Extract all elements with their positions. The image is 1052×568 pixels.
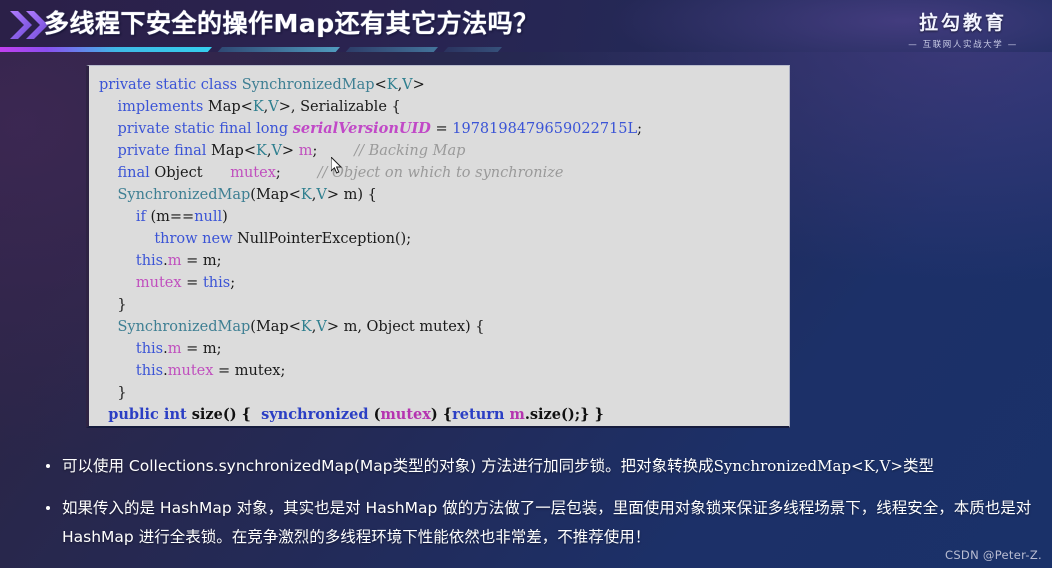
- code-token: // Object on which to synchronize: [318, 165, 564, 181]
- code-token: >, Serializable {: [279, 99, 401, 115]
- code-token: [99, 99, 117, 115]
- code-token: > m, Object mutex) {: [327, 319, 485, 335]
- code-token: K: [387, 77, 398, 93]
- code-token: return: [452, 406, 509, 423]
- code-token: mutex: [136, 275, 182, 291]
- code-token: [99, 165, 117, 181]
- code-token: }: [99, 385, 127, 401]
- code-token: (Map<: [250, 319, 301, 335]
- code-token: private final: [117, 143, 211, 159]
- code-token: mutex: [230, 165, 276, 181]
- code-token: this: [136, 253, 163, 269]
- code-token: [99, 341, 136, 357]
- code-token: V: [402, 77, 412, 93]
- code-line: }: [99, 382, 789, 404]
- code-token: =: [431, 121, 452, 137]
- code-token: ;: [312, 143, 354, 159]
- code-line: implements Map<K,V>, Serializable {: [99, 96, 789, 118]
- code-token: m: [299, 143, 313, 159]
- code-token: [99, 319, 117, 335]
- code-line: mutex = this;: [99, 272, 789, 294]
- code-line: this.m = m;: [99, 250, 789, 272]
- code-token: null: [194, 209, 222, 225]
- code-token: implements: [117, 99, 207, 115]
- code-token: =: [182, 275, 203, 291]
- code-line: SynchronizedMap(Map<K,V> m, Object mutex…: [99, 316, 789, 338]
- bullet-text-run: 如果传入的是 HashMap 对象，其实也是对 HashMap 做的方法做了一层…: [62, 499, 1031, 546]
- code-token: K: [253, 99, 264, 115]
- code-token: ;: [276, 165, 318, 181]
- code-token: NullPointerException();: [237, 231, 411, 247]
- code-token: = mutex;: [213, 363, 285, 379]
- code-token: mutex: [168, 363, 214, 379]
- bullet-text-run: 类型: [903, 457, 934, 475]
- code-content: private static class SynchronizedMap<K,V…: [99, 74, 789, 426]
- code-token: if: [136, 209, 151, 225]
- code-token: V: [316, 319, 326, 335]
- code-token: Map<: [211, 143, 256, 159]
- code-token: V: [271, 143, 281, 159]
- code-line: private static final long serialVersionU…: [99, 118, 789, 140]
- code-token: 1978198479659022715L: [452, 121, 637, 137]
- bullet-text-run: 可以使用 Collections.synchronizedMap(Map类型的对…: [62, 457, 714, 475]
- code-token: synchronized: [261, 406, 374, 423]
- code-token: V: [316, 187, 326, 203]
- code-token: private static class: [99, 77, 242, 93]
- list-item: 可以使用 Collections.synchronizedMap(Map类型的对…: [38, 452, 1033, 481]
- code-token: K: [301, 187, 312, 203]
- list-item: 如果传入的是 HashMap 对象，其实也是对 HashMap 做的方法做了一层…: [38, 494, 1033, 552]
- code-line: final Object mutex; // Object on which t…: [99, 162, 789, 184]
- code-token: this: [136, 363, 163, 379]
- code-token: V: [268, 99, 278, 115]
- code-token: > m) {: [327, 187, 377, 203]
- slide-root: 多线程下安全的操作Map还有其它方法吗？ 拉勾教育 — 互联网人实战大学 —: [0, 0, 1052, 568]
- code-token: SynchronizedMap: [242, 77, 375, 93]
- code-token: m: [509, 406, 524, 423]
- code-line: private final Map<K,V> m; // Backing Map: [99, 140, 789, 162]
- code-token: .size();} }: [525, 406, 604, 423]
- code-token: ) {: [431, 406, 452, 423]
- code-token: public int: [108, 406, 192, 423]
- code-screenshot-panel: private static class SynchronizedMap<K,V…: [86, 65, 790, 428]
- code-token: K: [301, 319, 312, 335]
- code-token: [99, 187, 117, 203]
- bullet-list: 可以使用 Collections.synchronizedMap(Map类型的对…: [38, 452, 1033, 552]
- code-token: final: [117, 165, 154, 181]
- bullet-text: 如果传入的是 HashMap 对象，其实也是对 HashMap 做的方法做了一层…: [62, 499, 1031, 546]
- code-line: }: [99, 294, 789, 316]
- code-token: [99, 275, 136, 291]
- code-line: this.mutex = mutex;: [99, 360, 789, 382]
- code-token: K: [256, 143, 267, 159]
- code-line: throw new NullPointerException();: [99, 228, 789, 250]
- code-token: (m==: [151, 209, 195, 225]
- code-token: serialVersionUID: [293, 120, 431, 137]
- code-token: m: [168, 253, 182, 269]
- code-token: Object: [154, 165, 230, 181]
- code-token: [99, 253, 136, 269]
- code-token: (Map<: [250, 187, 301, 203]
- header-underline-decoration: [0, 44, 1052, 52]
- code-token: <: [375, 77, 387, 93]
- bullet-dot-icon: [46, 464, 50, 468]
- code-token: ;: [230, 275, 235, 291]
- code-token: }: [99, 297, 127, 313]
- code-token: >: [413, 77, 425, 93]
- code-token: SynchronizedMap: [117, 187, 250, 203]
- code-token: [99, 407, 108, 423]
- code-line: public int size() { synchronized (mutex)…: [99, 404, 789, 426]
- code-token: [99, 121, 117, 137]
- code-token: private static final long: [117, 121, 292, 137]
- code-token: SynchronizedMap: [117, 319, 250, 335]
- code-token: mutex: [380, 406, 430, 423]
- code-line: private static class SynchronizedMap<K,V…: [99, 74, 789, 96]
- page-title: 多线程下安全的操作Map还有其它方法吗？: [44, 4, 539, 40]
- code-token: m: [168, 341, 182, 357]
- code-token: [99, 363, 136, 379]
- code-token: [99, 143, 117, 159]
- code-token: throw new: [154, 231, 237, 247]
- code-line: this.m = m;: [99, 338, 789, 360]
- code-token: ): [222, 209, 228, 225]
- code-token: this: [203, 275, 230, 291]
- brand-name: 拉勾教育: [888, 8, 1038, 35]
- code-token: size() {: [192, 406, 261, 423]
- code-token: = m;: [181, 341, 221, 357]
- code-line: if (m==null): [99, 206, 789, 228]
- bullet-text-run: SynchronizedMap<K,V>: [714, 457, 903, 475]
- code-token: ;: [637, 121, 642, 137]
- code-token: this: [136, 341, 163, 357]
- code-token: [99, 209, 136, 225]
- watermark: CSDN @Peter-Z.: [945, 548, 1042, 562]
- code-token: >: [282, 143, 299, 159]
- code-token: Map<: [208, 99, 253, 115]
- code-token: // Backing Map: [354, 143, 465, 159]
- code-line: SynchronizedMap(Map<K,V> m) {: [99, 184, 789, 206]
- bullet-dot-icon: [46, 506, 50, 510]
- code-token: [99, 231, 154, 247]
- code-token: = m;: [181, 253, 221, 269]
- slide-header: 多线程下安全的操作Map还有其它方法吗？ 拉勾教育 — 互联网人实战大学 —: [0, 0, 1052, 52]
- bullet-text: 可以使用 Collections.synchronizedMap(Map类型的对…: [62, 457, 934, 475]
